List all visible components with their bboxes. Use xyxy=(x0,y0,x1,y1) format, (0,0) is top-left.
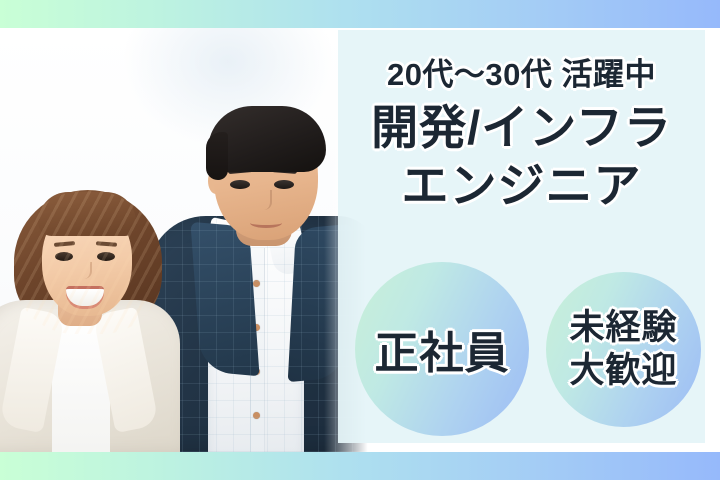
man-eye-left xyxy=(230,180,250,189)
headline-line-2: エンジニア xyxy=(338,158,705,213)
woman-eye-left xyxy=(55,252,73,261)
woman-eye-right xyxy=(97,252,115,261)
badge-experience-label-line1: 未経験 xyxy=(569,307,677,350)
man-mouth xyxy=(250,218,282,228)
woman-bangs xyxy=(38,192,136,236)
man-hair-side xyxy=(206,132,228,180)
headline-block: 20代〜30代 活躍中 開発/インフラ エンジニア xyxy=(338,30,705,213)
hero-photo xyxy=(0,28,380,452)
man-nose xyxy=(258,190,272,210)
shirt-button xyxy=(253,412,260,419)
badge-experience: 未経験 大歓迎 xyxy=(546,272,701,427)
top-gradient-bar xyxy=(0,0,720,28)
kicker-text: 20代〜30代 活躍中 xyxy=(338,58,705,92)
shirt-button xyxy=(253,280,260,287)
badge-employment-type: 正社員 xyxy=(355,262,529,436)
job-ad-banner: 20代〜30代 活躍中 開発/インフラ エンジニア 正社員 未経験 大歓迎 xyxy=(0,0,720,480)
man-eye-right xyxy=(274,180,294,189)
badge-employment-type-label: 正社員 xyxy=(375,317,510,381)
bottom-gradient-bar xyxy=(0,452,720,480)
headline-line-1: 開発/インフラ xyxy=(338,100,705,155)
badge-experience-label-line2: 大歓迎 xyxy=(569,350,677,393)
